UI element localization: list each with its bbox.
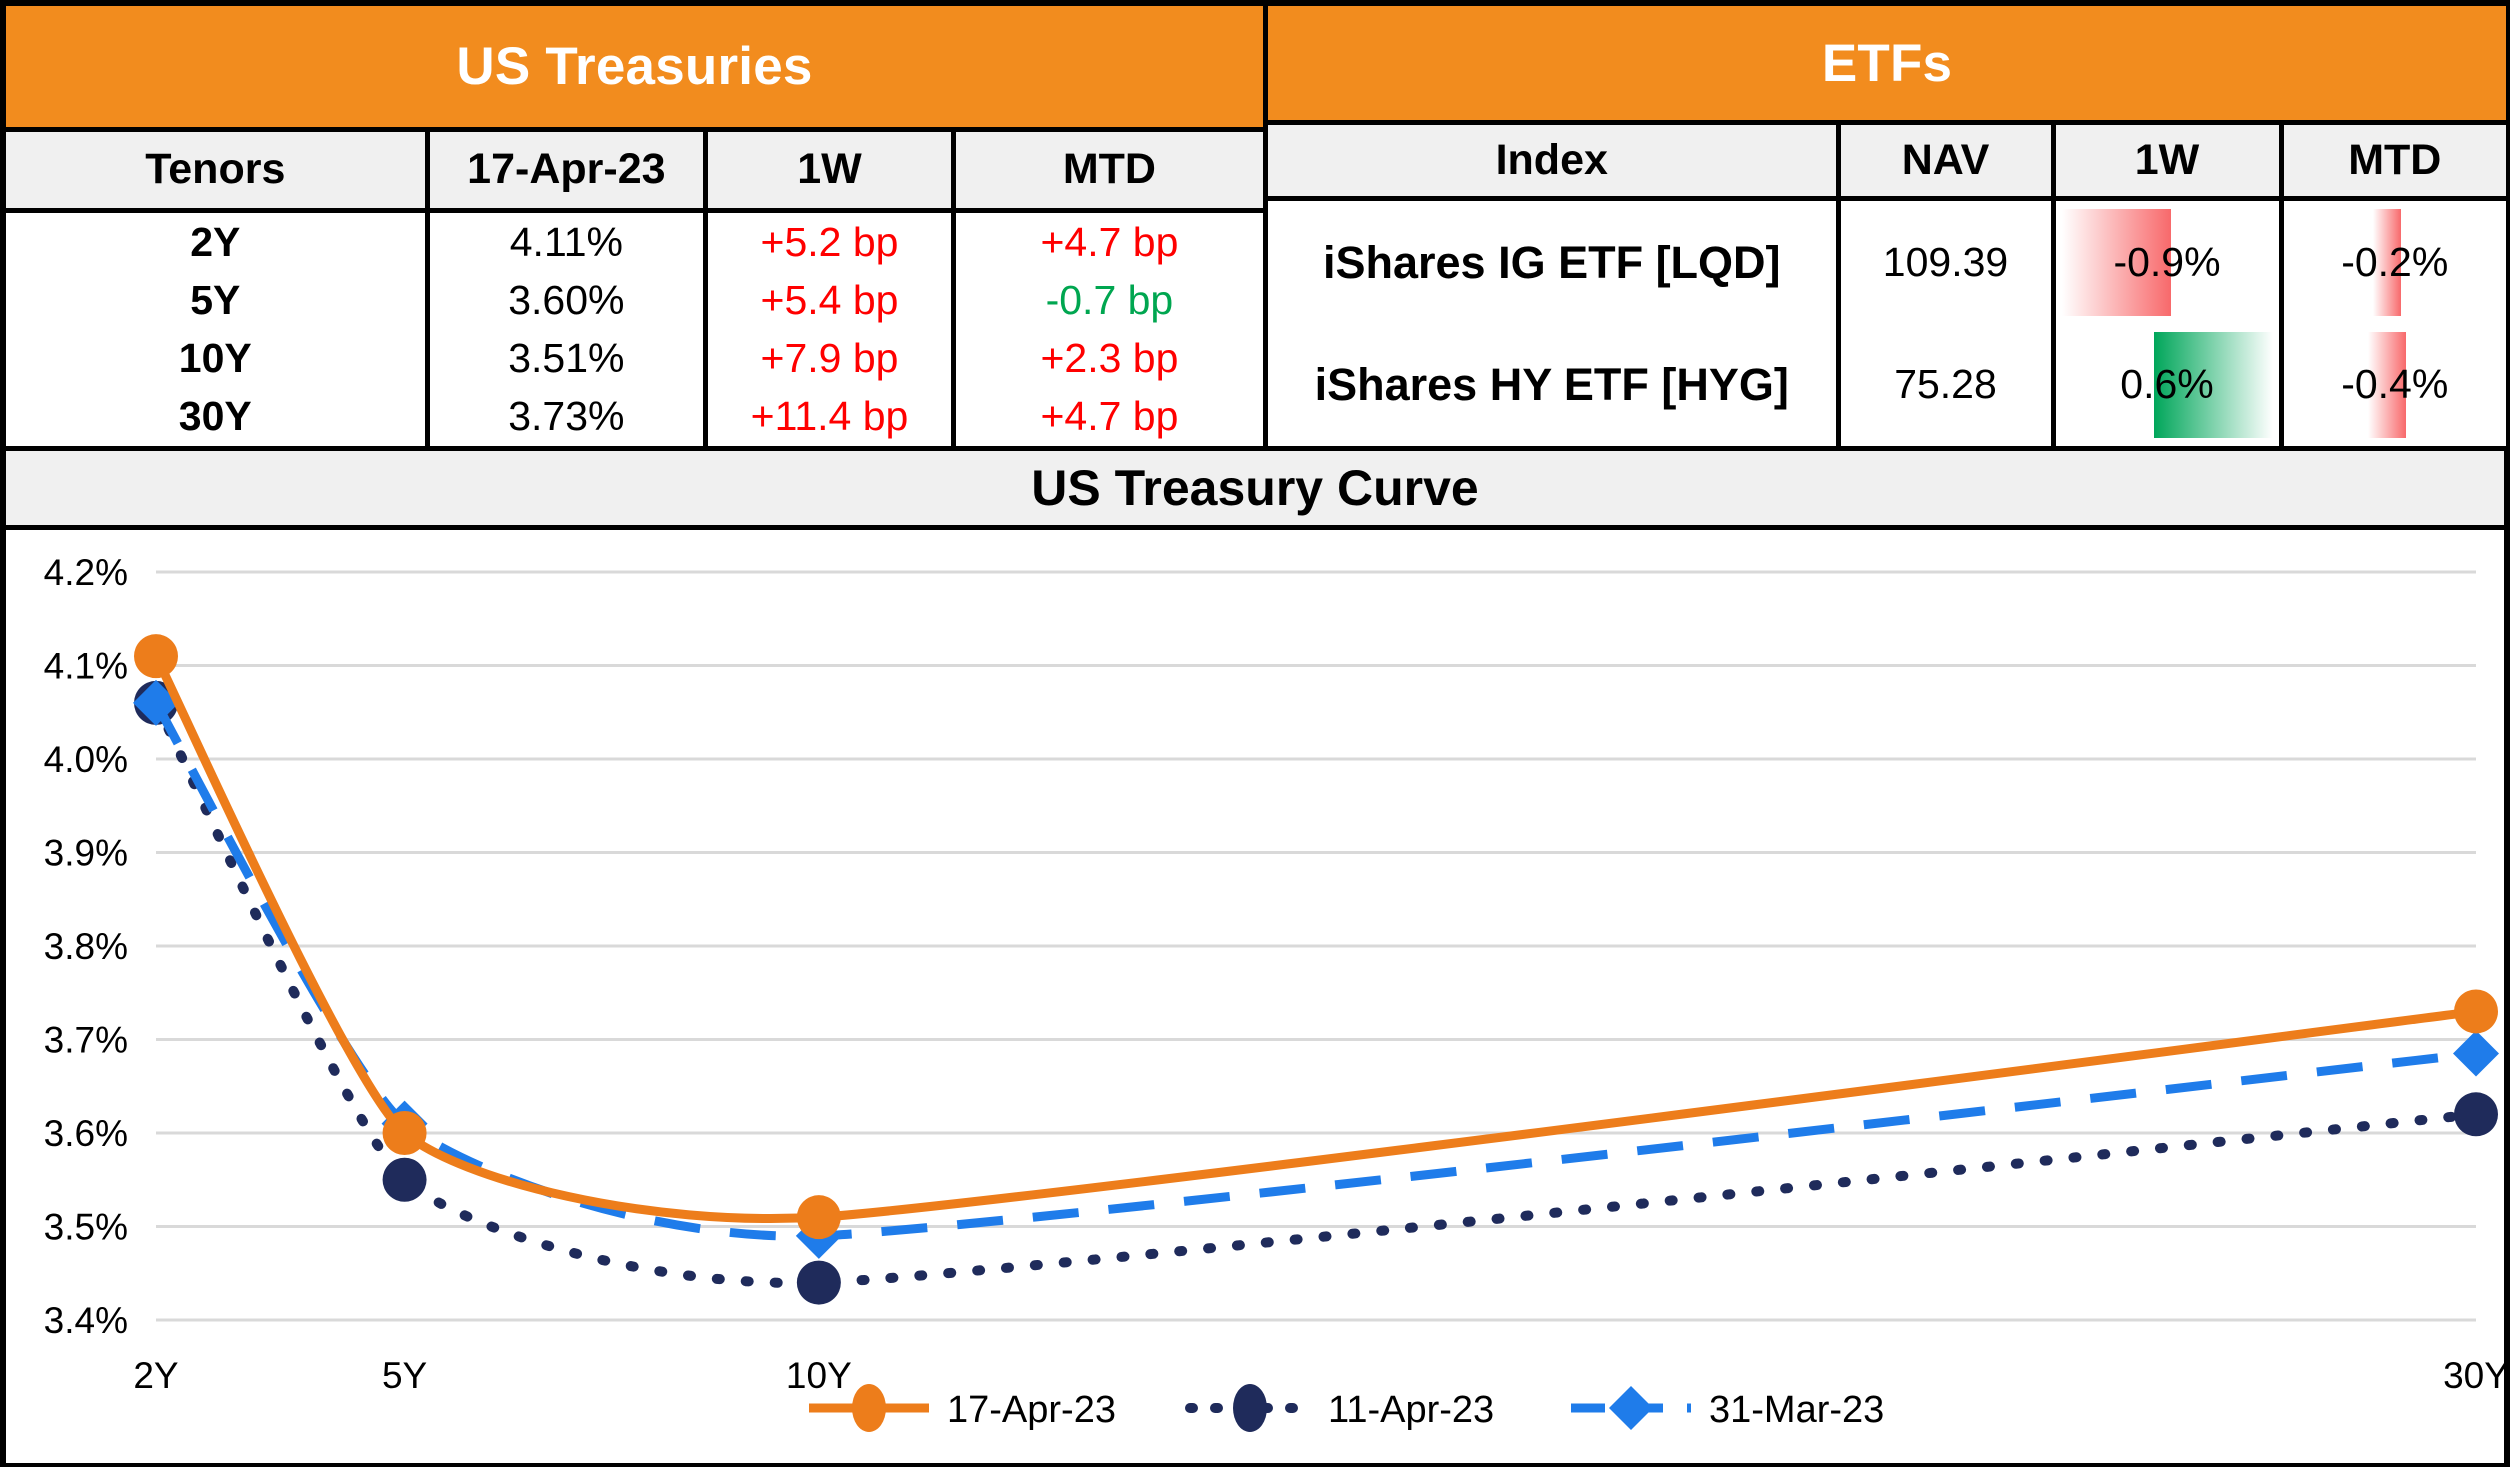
etfs-banner-row: ETFs — [1268, 6, 2506, 123]
table-row: iShares IG ETF [LQD] 109.39 -0.9% -0.2% — [1268, 199, 2506, 324]
etfs-header-row: Index NAV 1W MTD — [1268, 123, 2506, 199]
tenor-label: 30Y — [6, 388, 427, 446]
chart-y-axis-labels: 3.4%3.5%3.6%3.7%3.8%3.9%4.0%4.1%4.2% — [44, 552, 128, 1341]
svg-text:11-Apr-23: 11-Apr-23 — [1328, 1389, 1494, 1431]
tenor-mtd-change: -0.7 bp — [953, 271, 1263, 329]
etf-1w-value: 0.6% — [2120, 361, 2213, 407]
tenor-mtd-change: +2.3 bp — [953, 330, 1263, 388]
svg-text:4.2%: 4.2% — [44, 552, 128, 593]
column-header-level: 17-Apr-23 — [427, 129, 706, 210]
svg-text:4.0%: 4.0% — [44, 739, 128, 780]
etf-mtd-change: -0.4% — [2281, 324, 2506, 446]
table-row: iShares HY ETF [HYG] 75.28 0.6% -0.4% — [1268, 324, 2506, 446]
column-header-nav: NAV — [1838, 123, 2053, 199]
svg-text:5Y: 5Y — [382, 1355, 427, 1396]
column-header-index: Index — [1268, 123, 1838, 199]
column-header-1w: 1W — [2053, 123, 2281, 199]
svg-text:31-Mar-23: 31-Mar-23 — [1709, 1389, 1884, 1431]
chart-series-group — [133, 634, 2499, 1304]
svg-text:3.8%: 3.8% — [44, 926, 128, 967]
tenor-label: 5Y — [6, 271, 427, 329]
table-row: 10Y 3.51% +7.9 bp +2.3 bp — [6, 330, 1263, 388]
etf-nav: 75.28 — [1838, 324, 2053, 446]
treasuries-banner-row: US Treasuries — [6, 6, 1263, 129]
us-treasuries-panel: US Treasuries Tenors 17-Apr-23 1W MTD 2Y… — [6, 6, 1268, 446]
chart-x-axis-labels: 2Y5Y10Y30Y — [133, 1355, 2504, 1396]
svg-text:3.9%: 3.9% — [44, 833, 128, 874]
tenor-level: 3.51% — [427, 330, 706, 388]
column-header-mtd: MTD — [2281, 123, 2506, 199]
chart-gridlines — [156, 572, 2476, 1320]
etf-mtd-value: -0.4% — [2341, 361, 2448, 407]
column-header-1w: 1W — [706, 129, 954, 210]
tenor-level: 3.60% — [427, 271, 706, 329]
svg-text:3.5%: 3.5% — [44, 1207, 128, 1248]
column-header-mtd: MTD — [953, 129, 1263, 210]
top-tables: US Treasuries Tenors 17-Apr-23 1W MTD 2Y… — [6, 6, 2504, 446]
tenor-mtd-change: +4.7 bp — [953, 210, 1263, 271]
svg-text:3.6%: 3.6% — [44, 1113, 128, 1154]
svg-text:10Y: 10Y — [786, 1355, 852, 1396]
svg-text:17-Apr-23: 17-Apr-23 — [947, 1389, 1116, 1431]
svg-text:2Y: 2Y — [133, 1355, 178, 1396]
etfs-panel: ETFs Index NAV 1W MTD iShares IG ETF [LQ… — [1268, 6, 2506, 446]
table-row: 30Y 3.73% +11.4 bp +4.7 bp — [6, 388, 1263, 446]
chart-svg: 3.4%3.5%3.6%3.7%3.8%3.9%4.0%4.1%4.2% 2Y5… — [6, 530, 2504, 1463]
svg-text:3.4%: 3.4% — [44, 1300, 128, 1341]
tenor-1w-change: +11.4 bp — [706, 388, 954, 446]
tenor-label: 10Y — [6, 330, 427, 388]
etf-1w-change: 0.6% — [2053, 324, 2281, 446]
table-row: 2Y 4.11% +5.2 bp +4.7 bp — [6, 210, 1263, 271]
svg-text:3.7%: 3.7% — [44, 1020, 128, 1061]
etf-index-name: iShares HY ETF [HYG] — [1268, 324, 1838, 446]
dashboard-page: US Treasuries Tenors 17-Apr-23 1W MTD 2Y… — [0, 0, 2510, 1467]
etf-mtd-value: -0.2% — [2341, 239, 2448, 285]
etf-nav: 109.39 — [1838, 199, 2053, 324]
treasuries-header-row: Tenors 17-Apr-23 1W MTD — [6, 129, 1263, 210]
tenor-level: 4.11% — [427, 210, 706, 271]
chart-title: US Treasury Curve — [6, 446, 2504, 530]
tenor-1w-change: +5.4 bp — [706, 271, 954, 329]
etfs-banner: ETFs — [1268, 6, 2506, 123]
tenor-mtd-change: +4.7 bp — [953, 388, 1263, 446]
us-treasuries-table: US Treasuries Tenors 17-Apr-23 1W MTD 2Y… — [6, 6, 1263, 446]
tenor-level: 3.73% — [427, 388, 706, 446]
tenor-1w-change: +7.9 bp — [706, 330, 954, 388]
etf-mtd-change: -0.2% — [2281, 199, 2506, 324]
tenor-1w-change: +5.2 bp — [706, 210, 954, 271]
chart-legend: 17-Apr-2311-Apr-2331-Mar-23 — [809, 1384, 1884, 1432]
column-header-tenors: Tenors — [6, 129, 427, 210]
svg-text:30Y: 30Y — [2443, 1355, 2504, 1396]
etf-1w-change: -0.9% — [2053, 199, 2281, 324]
etf-1w-value: -0.9% — [2113, 239, 2220, 285]
tenor-label: 2Y — [6, 210, 427, 271]
treasuries-banner: US Treasuries — [6, 6, 1263, 129]
etfs-table: ETFs Index NAV 1W MTD iShares IG ETF [LQ… — [1268, 6, 2506, 446]
table-row: 5Y 3.60% +5.4 bp -0.7 bp — [6, 271, 1263, 329]
treasury-curve-chart: 3.4%3.5%3.6%3.7%3.8%3.9%4.0%4.1%4.2% 2Y5… — [6, 530, 2504, 1463]
svg-text:4.1%: 4.1% — [44, 646, 128, 687]
etf-index-name: iShares IG ETF [LQD] — [1268, 199, 1838, 324]
